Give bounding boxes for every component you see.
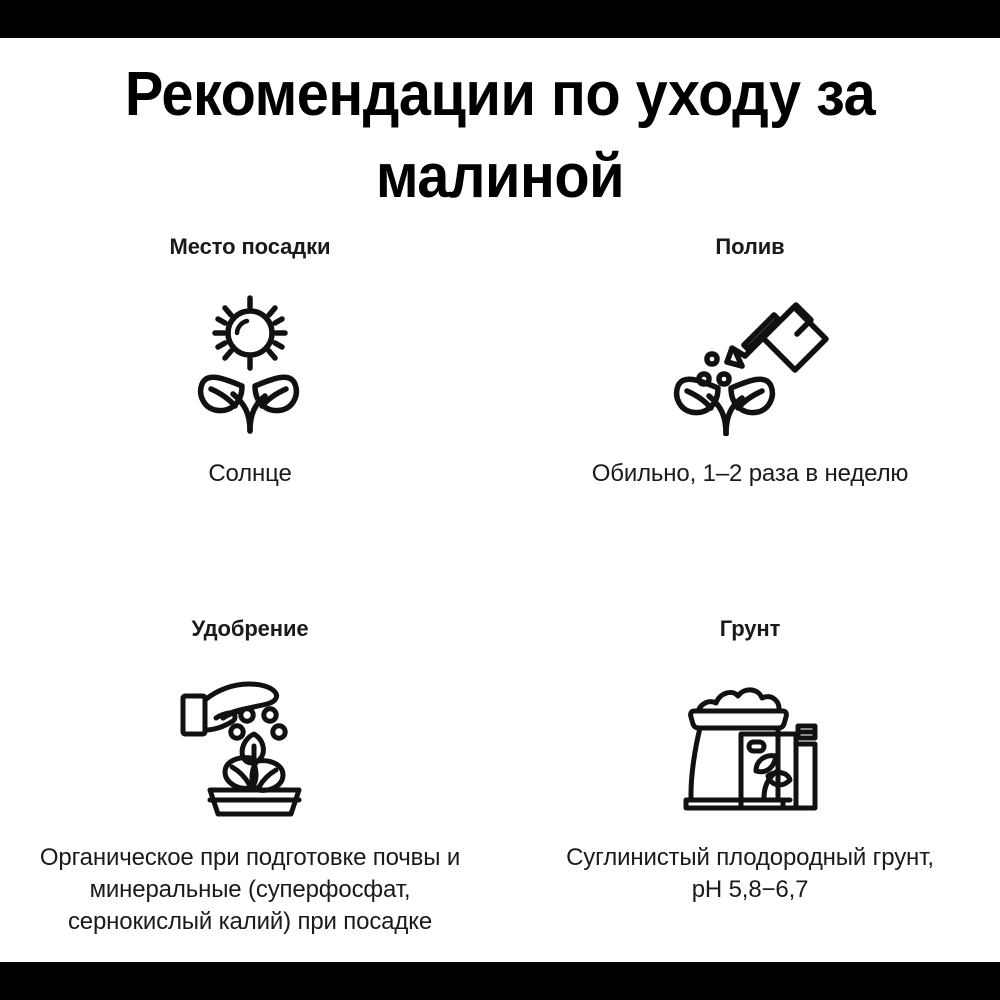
watering-can-plant-icon [665, 286, 835, 436]
card-title-fertilizer: Удобрение [191, 616, 308, 642]
card-caption-fertilizer: Органическое при подготовке почвы и мине… [0, 842, 505, 938]
recommendation-grid: Место посадки [0, 234, 1000, 954]
sun-plant-icon [165, 286, 335, 436]
card-title-watering: Полив [715, 234, 784, 260]
card-caption-planting-site: Солнце [0, 458, 500, 490]
infographic-root: Рекомендации по уходу за малиной Место п… [0, 0, 1000, 1000]
card-title-planting-site: Место посадки [170, 234, 331, 260]
card-title-soil: Грунт [720, 616, 781, 642]
page-title-line-2: малиной [35, 136, 965, 218]
page-title: Рекомендации по уходу за малиной [35, 54, 965, 219]
soil-sack-bottle-icon [665, 668, 835, 818]
letterbox-bottom-bar [0, 962, 1000, 1000]
card-fertilizer: Удобрение [0, 584, 500, 954]
card-caption-soil: Суглинистый плодородный грунт, pH 5,8−6,… [510, 842, 990, 906]
card-watering: Полив [500, 234, 1000, 584]
card-caption-watering: Обильно, 1–2 раза в неделю [500, 458, 1000, 490]
card-planting-site: Место посадки [0, 234, 500, 584]
letterbox-top-bar [0, 0, 1000, 38]
infographic-canvas: Рекомендации по уходу за малиной Место п… [0, 38, 1000, 962]
page-title-line-1: Рекомендации по уходу за [35, 54, 965, 136]
hand-fertilizing-plant-icon [165, 668, 335, 818]
card-soil: Грунт [500, 584, 1000, 954]
